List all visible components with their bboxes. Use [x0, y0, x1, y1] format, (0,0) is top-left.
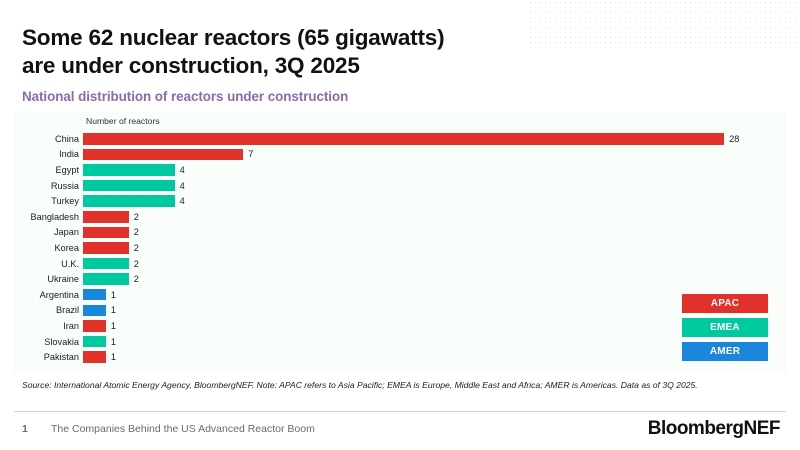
bar-row: Iran1	[14, 318, 786, 334]
bar-row: Argentina1	[14, 287, 786, 303]
bar-track: 2	[83, 271, 786, 287]
page-number: 1	[22, 423, 28, 435]
bar-value-label: 28	[729, 134, 739, 144]
bar-value-label: 2	[134, 274, 139, 284]
bar-value-label: 1	[111, 321, 116, 331]
bar-category-label: Iran	[14, 321, 83, 331]
bar-track: 7	[83, 147, 786, 163]
bar-row: India7	[14, 147, 786, 163]
bar-value-label: 2	[134, 259, 139, 269]
bar-category-label: Bangladesh	[14, 212, 83, 222]
bar-category-label: Slovakia	[14, 337, 83, 347]
bar-track: 4	[83, 178, 786, 194]
legend-item-apac[interactable]: APAC	[682, 294, 768, 313]
page-title-line1: Some 62 nuclear reactors (65 gigawatts)	[22, 25, 444, 50]
bloombergnef-logo: BloombergNEF	[648, 418, 780, 440]
footer-divider	[14, 411, 786, 412]
bar-track: 2	[83, 240, 786, 256]
bar-value-label: 1	[111, 290, 116, 300]
chart-legend: APACEMEAAMER	[682, 294, 768, 366]
bar-track: 4	[83, 162, 786, 178]
legend-item-label: APAC	[711, 298, 739, 309]
bar-track: 4	[83, 193, 786, 209]
bar-track: 1	[83, 349, 786, 365]
bar-row: Egypt4	[14, 162, 786, 178]
bar-row: Slovakia1	[14, 334, 786, 350]
bar-emea	[83, 164, 175, 176]
legend-item-label: AMER	[710, 346, 740, 357]
bar-track: 2	[83, 256, 786, 272]
bar-value-label: 4	[180, 165, 185, 175]
bar-emea	[83, 273, 129, 285]
bar-category-label: Russia	[14, 181, 83, 191]
bar-row: Brazil1	[14, 303, 786, 319]
bar-track: 1	[83, 334, 786, 350]
bar-emea	[83, 258, 129, 270]
bar-value-label: 2	[134, 243, 139, 253]
bar-amer	[83, 289, 106, 301]
footer: 1 The Companies Behind the US Advanced R…	[0, 418, 800, 450]
bar-row: U.K.2	[14, 256, 786, 272]
bar-value-label: 2	[134, 212, 139, 222]
bar-track: 1	[83, 287, 786, 303]
bar-category-label: Korea	[14, 243, 83, 253]
bar-category-label: Egypt	[14, 165, 83, 175]
bar-value-label: 1	[111, 352, 116, 362]
bar-emea	[83, 195, 175, 207]
legend-item-emea[interactable]: EMEA	[682, 318, 768, 337]
bar-apac	[83, 320, 106, 332]
bar-row: Turkey4	[14, 193, 786, 209]
bar-value-label: 4	[180, 181, 185, 191]
bar-apac	[83, 242, 129, 254]
source-note: Source: International Atomic Energy Agen…	[22, 379, 778, 391]
bar-value-label: 7	[248, 149, 253, 159]
legend-item-amer[interactable]: AMER	[682, 342, 768, 361]
bar-row: Bangladesh2	[14, 209, 786, 225]
page-title-line2: are under construction, 3Q 2025	[22, 53, 360, 78]
bar-value-label: 2	[134, 227, 139, 237]
legend-item-label: EMEA	[710, 322, 740, 333]
page-subtitle: National distribution of reactors under …	[22, 89, 348, 104]
bar-category-label: Ukraine	[14, 274, 83, 284]
page-title: Some 62 nuclear reactors (65 gigawatts) …	[22, 24, 642, 80]
slide: Some 62 nuclear reactors (65 gigawatts) …	[0, 0, 800, 450]
bar-category-label: Japan	[14, 227, 83, 237]
bar-track: 1	[83, 318, 786, 334]
bar-row: Korea2	[14, 240, 786, 256]
bar-apac	[83, 351, 106, 363]
bar-row: China28	[14, 131, 786, 147]
bar-value-label: 4	[180, 196, 185, 206]
bar-category-label: U.K.	[14, 259, 83, 269]
bar-apac	[83, 149, 243, 161]
bar-category-label: Brazil	[14, 305, 83, 315]
bar-apac	[83, 211, 129, 223]
bar-apac	[83, 133, 724, 145]
bar-track: 1	[83, 303, 786, 319]
bar-chart-rows: China28India7Egypt4Russia4Turkey4Banglad…	[14, 131, 786, 365]
x-axis-title: Number of reactors	[86, 116, 160, 126]
bar-track: 2	[83, 225, 786, 241]
bar-category-label: Pakistan	[14, 352, 83, 362]
bar-row: Pakistan1	[14, 349, 786, 365]
bar-value-label: 1	[111, 305, 116, 315]
bar-track: 2	[83, 209, 786, 225]
bar-category-label: Turkey	[14, 196, 83, 206]
chart-panel: Number of reactors China28India7Egypt4Ru…	[14, 112, 786, 374]
bar-row: Japan2	[14, 225, 786, 241]
bar-amer	[83, 305, 106, 317]
bar-category-label: Argentina	[14, 290, 83, 300]
bar-category-label: China	[14, 134, 83, 144]
footer-deck-title: The Companies Behind the US Advanced Rea…	[51, 423, 315, 435]
bar-row: Russia4	[14, 178, 786, 194]
bar-value-label: 1	[111, 337, 116, 347]
bar-apac	[83, 227, 129, 239]
bar-category-label: India	[14, 149, 83, 159]
bar-emea	[83, 336, 106, 348]
bar-row: Ukraine2	[14, 271, 786, 287]
bar-emea	[83, 180, 175, 192]
bar-track: 28	[83, 131, 786, 147]
